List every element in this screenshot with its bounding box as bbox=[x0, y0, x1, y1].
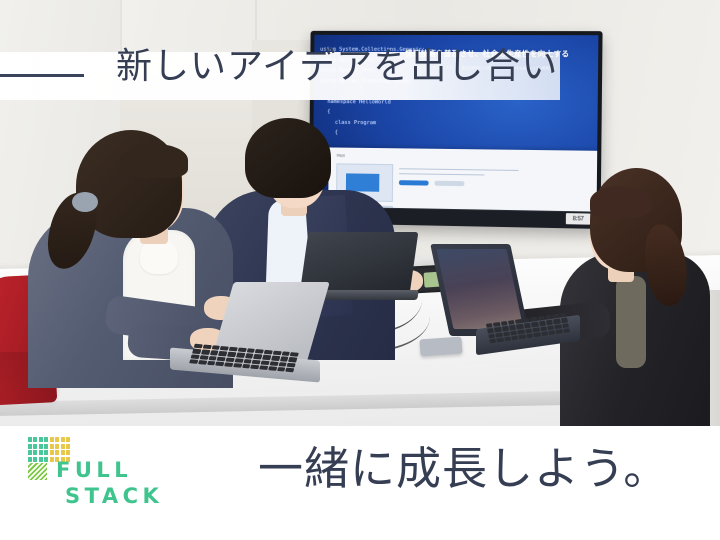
logo-stripe-block bbox=[28, 463, 47, 480]
bottom-headline: 一緒に成長しよう。 bbox=[258, 447, 708, 492]
logo-line-2: STACK bbox=[56, 483, 163, 509]
slide-text-line bbox=[399, 168, 519, 171]
slide-secondary-button[interactable] bbox=[435, 181, 465, 186]
hair bbox=[245, 118, 331, 198]
person-woman-right bbox=[560, 168, 720, 426]
logo-dot bbox=[61, 437, 65, 442]
logo-dot bbox=[28, 457, 32, 462]
logo-dot bbox=[66, 444, 70, 449]
logo-dot bbox=[50, 437, 54, 442]
inner-top bbox=[616, 276, 646, 368]
logo-dot bbox=[44, 457, 48, 462]
promotional-banner: using System.Collections.Generic; using … bbox=[0, 0, 720, 540]
logo-dot bbox=[39, 450, 43, 455]
laptop-woman-right bbox=[440, 244, 580, 356]
logo-dot bbox=[50, 444, 54, 449]
logo-dot bbox=[28, 437, 32, 442]
top-headline: 新しいアイデアを出し合い bbox=[116, 48, 576, 84]
logo-dot bbox=[44, 437, 48, 442]
bangs bbox=[590, 186, 652, 218]
logo-dot bbox=[39, 457, 43, 462]
logo-dot bbox=[33, 450, 37, 455]
headline-rule bbox=[0, 74, 84, 77]
logo-dot bbox=[55, 450, 59, 455]
logo-dot bbox=[28, 450, 32, 455]
hair-tie bbox=[72, 192, 98, 212]
slide-primary-button[interactable] bbox=[399, 180, 429, 185]
logo-dot bbox=[66, 450, 70, 455]
logo-dot bbox=[28, 444, 32, 449]
logo-dot bbox=[55, 437, 59, 442]
fullstack-logo[interactable]: FULL STACK bbox=[28, 437, 228, 507]
logo-dot bbox=[33, 437, 37, 442]
logo-wordmark: FULL STACK bbox=[56, 457, 163, 510]
logo-dot bbox=[39, 437, 43, 442]
logo-dot bbox=[44, 450, 48, 455]
logo-dot bbox=[50, 450, 54, 455]
logo-dot bbox=[55, 444, 59, 449]
bangs bbox=[120, 144, 188, 178]
logo-dot bbox=[66, 437, 70, 442]
logo-dot bbox=[33, 444, 37, 449]
logo-dot bbox=[33, 457, 37, 462]
logo-line-1: FULL bbox=[56, 458, 132, 482]
laptop-woman-left bbox=[170, 282, 320, 390]
logo-dot bbox=[61, 450, 65, 455]
logo-dot bbox=[44, 444, 48, 449]
logo-dot bbox=[50, 457, 54, 462]
logo-dot bbox=[61, 444, 65, 449]
slide-text-line bbox=[399, 173, 484, 176]
logo-dot bbox=[39, 444, 43, 449]
